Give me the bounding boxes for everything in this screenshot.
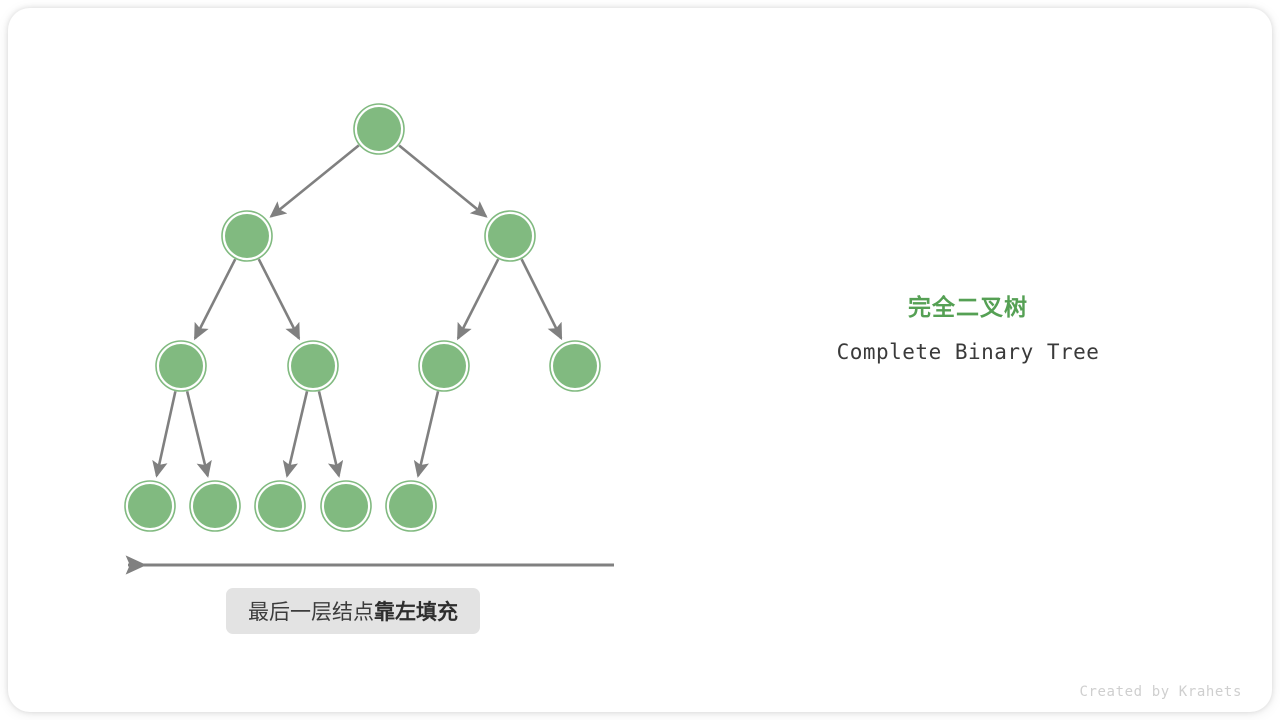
tree-nodes (125, 104, 600, 531)
tree-node[interactable] (288, 341, 338, 391)
tree-edge (458, 259, 498, 338)
tree-node-circle (324, 484, 368, 528)
tree-node-circle (258, 484, 302, 528)
page-title-cn: 完全二叉树 (700, 292, 1236, 322)
tree-node-circle (488, 214, 532, 258)
tree-node[interactable] (222, 211, 272, 261)
tree-node-circle (159, 344, 203, 388)
status-badge: 最后一层结点靠左填充 (226, 588, 480, 634)
tree-node-circle (193, 484, 237, 528)
credit-text: Created by Krahets (1079, 684, 1242, 700)
tree-edge (271, 145, 359, 216)
tree-edge (195, 259, 235, 338)
tree-node-circle (225, 214, 269, 258)
tree-edge (287, 391, 307, 476)
tree-node[interactable] (156, 341, 206, 391)
tree-node[interactable] (354, 104, 404, 154)
tree-node[interactable] (255, 481, 305, 531)
tree-node[interactable] (321, 481, 371, 531)
tree-edge (259, 259, 299, 338)
tree-node-circle (553, 344, 597, 388)
tree-edge (399, 145, 486, 216)
tree-node-circle (291, 344, 335, 388)
tree-edge (187, 391, 208, 476)
tree-node[interactable] (386, 481, 436, 531)
diagram-canvas: 完全二叉树 Complete Binary Tree 最后一层结点靠左填充 Cr… (0, 0, 1280, 720)
tree-node-circle (357, 107, 401, 151)
tree-node[interactable] (485, 211, 535, 261)
tree-edge (418, 391, 438, 476)
tree-node[interactable] (550, 341, 600, 391)
tree-node-circle (389, 484, 433, 528)
tree-edge (157, 391, 176, 475)
badge-text-normal: 最后一层结点 (248, 596, 374, 626)
tree-edge (522, 259, 562, 338)
page-title-en: Complete Binary Tree (700, 338, 1236, 366)
tree-node[interactable] (419, 341, 469, 391)
tree-node-circle (128, 484, 172, 528)
tree-edge (319, 391, 339, 476)
tree-node-circle (422, 344, 466, 388)
title-block: 完全二叉树 Complete Binary Tree (700, 292, 1236, 366)
badge-text-bold: 靠左填充 (374, 596, 458, 626)
tree-edges (157, 145, 561, 476)
tree-node[interactable] (190, 481, 240, 531)
tree-node[interactable] (125, 481, 175, 531)
